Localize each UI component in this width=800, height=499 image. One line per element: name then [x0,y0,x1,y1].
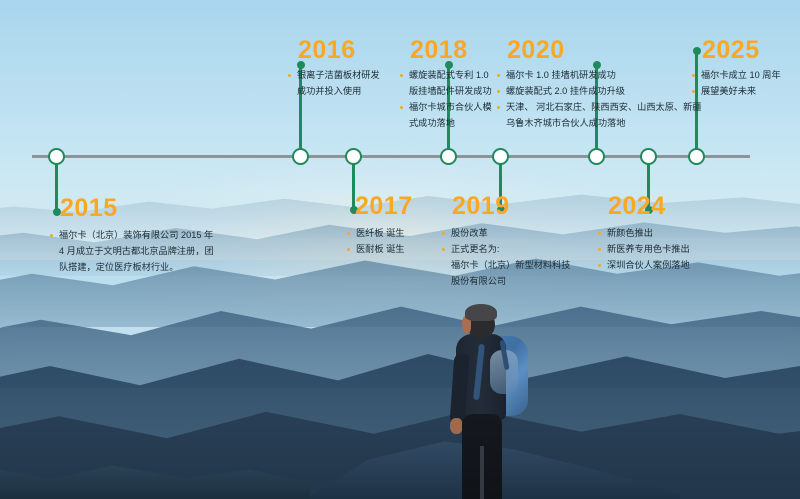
timeline-bullet: 螺旋装配式专利 1.0 [400,68,492,83]
timeline-bullet-list-2015: 福尔卡（北京）装饰有限公司 2015 年4 月成立于文明古都北京品牌注册，团队搭… [50,228,214,275]
timeline-bullet: 4 月成立于文明古都北京品牌注册，团 [50,244,214,259]
timeline-bullet-list-2016: 银离子洁菌板材研发成功并投入使用 [288,68,380,99]
timeline-bullet: 新颜色推出 [598,226,690,241]
timeline-bullet: 银离子洁菌板材研发 [288,68,380,83]
timeline-year-label-2025: 2025 [702,38,781,63]
timeline-bullet: 天津、 河北石家庄、陕西西安、山西太原、新疆 [497,100,702,115]
timeline-entry-2020: 2020福尔卡 1.0 挂墙机研发成功螺旋装配式 2.0 挂件成功升级天津、 河… [497,38,702,132]
timeline-bullet: 新医养专用色卡推出 [598,242,690,257]
timeline-year-label-2016: 2016 [298,38,380,63]
timeline-entry-2015: 2015福尔卡（北京）装饰有限公司 2015 年4 月成立于文明古都北京品牌注册… [50,196,214,276]
timeline-node-2025[interactable] [688,148,705,165]
timeline-bullet: 福尔卡（北京）装饰有限公司 2015 年 [50,228,214,243]
timeline-bullet: 医耐板 诞生 [347,242,413,257]
timeline-node-2024[interactable] [640,148,657,165]
timeline-entry-2017: 2017医纤板 诞生医耐板 诞生 [347,194,413,258]
timeline-node-2020[interactable] [588,148,605,165]
timeline-entry-2016: 2016银离子洁菌板材研发成功并投入使用 [288,38,380,100]
timeline-bullet-list-2020: 福尔卡 1.0 挂墙机研发成功螺旋装配式 2.0 挂件成功升级天津、 河北石家庄… [497,68,702,131]
timeline-year-label-2020: 2020 [507,38,702,63]
timeline-bullet: 福尔卡 1.0 挂墙机研发成功 [497,68,702,83]
hiker-leg-gap [480,446,484,499]
timeline-year-label-2024: 2024 [608,194,690,219]
timeline-bullet: 股份有限公司 [442,274,570,289]
timeline-bullet: 股份改革 [442,226,570,241]
timeline-bullet: 式成功落地 [400,116,492,131]
timeline-entry-2024: 2024新颜色推出新医养专用色卡推出深圳合伙人案例落地 [598,194,690,274]
timeline-bullet: 医纤板 诞生 [347,226,413,241]
timeline-year-label-2019: 2019 [452,194,570,219]
timeline-year-label-2017: 2017 [355,194,413,219]
timeline-node-2017[interactable] [345,148,362,165]
timeline-entry-2025: 2025福尔卡成立 10 周年展望美好未来 [692,38,781,100]
timeline-node-2016[interactable] [292,148,309,165]
timeline-bullet-list-2024: 新颜色推出新医养专用色卡推出深圳合伙人案例落地 [598,226,690,273]
hiker-figure [440,306,560,499]
timeline-infographic: 2015福尔卡（北京）装饰有限公司 2015 年4 月成立于文明古都北京品牌注册… [0,0,800,499]
timeline-bullet: 队搭建，定位医疗板材行业。 [50,260,214,275]
timeline-bullet-list-2025: 福尔卡成立 10 周年展望美好未来 [692,68,781,99]
timeline-year-label-2018: 2018 [410,38,492,63]
timeline-bullet: 福尔卡城市合伙人模 [400,100,492,115]
timeline-bullet-list-2019: 股份改革正式更名为:福尔卡（北京）新型材料科技股份有限公司 [442,226,570,289]
timeline-bullet: 福尔卡（北京）新型材料科技 [442,258,570,273]
timeline-bullet: 成功并投入使用 [288,84,380,99]
timeline-bullet: 版挂墙配件研发成功 [400,84,492,99]
timeline-bullet-list-2018: 螺旋装配式专利 1.0版挂墙配件研发成功福尔卡城市合伙人模式成功落地 [400,68,492,131]
timeline-bullet: 乌鲁木齐城市合伙人成功落地 [497,116,702,131]
timeline-bullet: 福尔卡成立 10 周年 [692,68,781,83]
timeline-year-label-2015: 2015 [60,196,214,221]
timeline-node-2018[interactable] [440,148,457,165]
timeline-bullet: 正式更名为: [442,242,570,257]
timeline-bullet: 螺旋装配式 2.0 挂件成功升级 [497,84,702,99]
timeline-bullet: 深圳合伙人案例落地 [598,258,690,273]
hiker-cap [465,304,497,321]
timeline-entry-2018: 2018螺旋装配式专利 1.0版挂墙配件研发成功福尔卡城市合伙人模式成功落地 [400,38,492,132]
timeline-node-2019[interactable] [492,148,509,165]
timeline-node-2015[interactable] [48,148,65,165]
timeline-entry-2019: 2019股份改革正式更名为:福尔卡（北京）新型材料科技股份有限公司 [442,194,570,290]
timeline-bullet: 展望美好未来 [692,84,781,99]
timeline-bullet-list-2017: 医纤板 诞生医耐板 诞生 [347,226,413,257]
